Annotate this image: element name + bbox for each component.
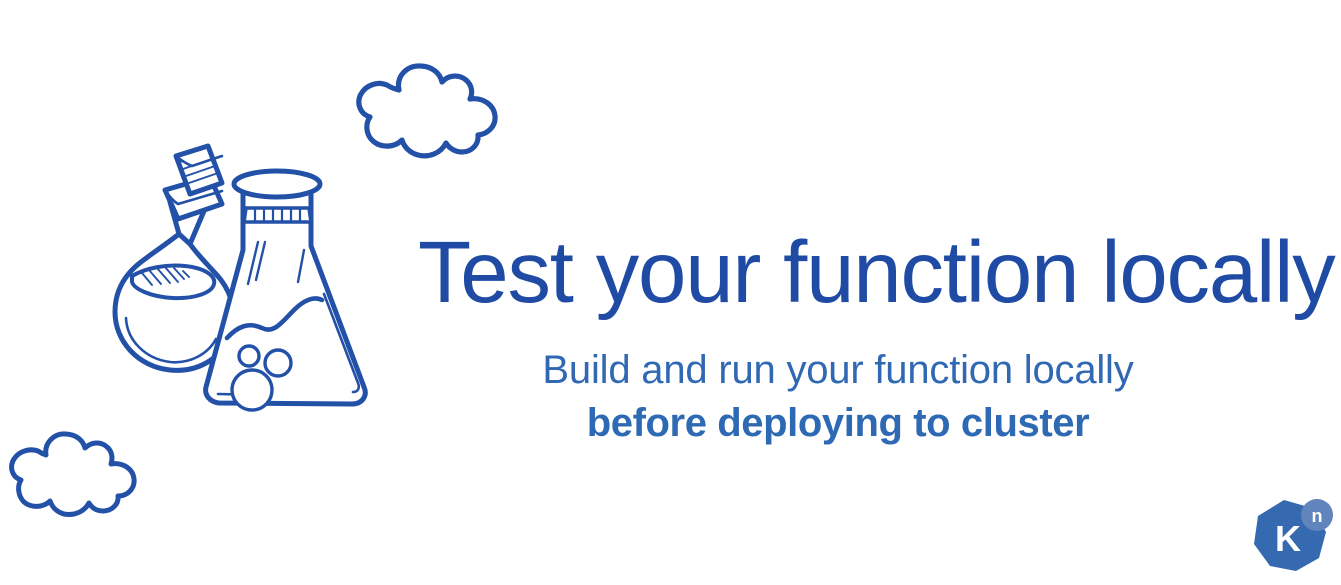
subtitle-line-2: before deploying to cluster [418, 397, 1258, 450]
knative-logo: K n [1250, 498, 1334, 578]
lab-flasks-illustration [66, 142, 386, 420]
cloud-bottom-icon [4, 428, 156, 520]
slide-canvas: Test your function locally Build and run… [0, 0, 1341, 585]
logo-letter-n: n [1312, 506, 1323, 526]
conical-flask [206, 171, 366, 410]
subtitle-block: Build and run your function locally befo… [418, 344, 1258, 450]
cloud-top-icon [352, 60, 508, 164]
page-title: Test your function locally [418, 228, 1262, 318]
logo-letter-k: K [1275, 518, 1301, 559]
subtitle-line-1: Build and run your function locally [418, 344, 1258, 397]
round-flask [115, 146, 234, 370]
